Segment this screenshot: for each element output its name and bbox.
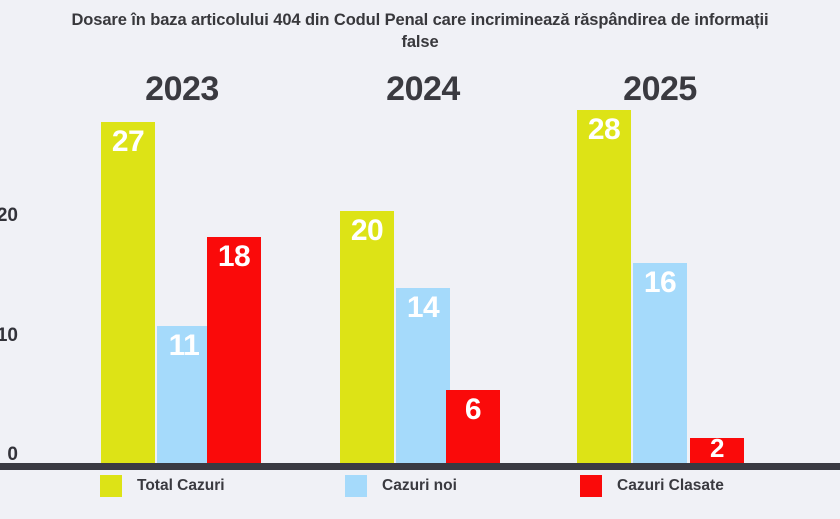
bar-value-label: 27 <box>101 126 155 157</box>
bar-value-label: 11 <box>157 330 211 361</box>
bar-2024-cazuri-noi[interactable]: 14 <box>396 288 450 466</box>
bar-2023-cazuri-noi[interactable]: 11 <box>157 326 211 466</box>
legend-swatch-icon-cazuri-clasate <box>580 475 602 497</box>
x-axis-baseline <box>0 463 840 470</box>
bar-2025-cazuri-clasate[interactable]: 2 <box>690 438 744 466</box>
bar-value-label: 6 <box>446 394 500 425</box>
chart-legend: Total Cazuri Cazuri noi Cazuri Clasate <box>0 474 840 519</box>
legend-item-total-cazuri[interactable]: Total Cazuri <box>100 474 225 498</box>
y-axis-tick-10: 10 <box>0 325 18 347</box>
legend-item-cazuri-noi[interactable]: Cazuri noi <box>345 474 457 498</box>
bar-value-label: 2 <box>690 435 744 462</box>
bar-2024-cazuri-clasate[interactable]: 6 <box>446 390 500 466</box>
legend-label-cazuri-clasate: Cazuri Clasate <box>617 477 724 495</box>
legend-label-cazuri-noi: Cazuri noi <box>382 477 457 495</box>
chart-container: Dosare în baza articolului 404 din Codul… <box>0 0 840 519</box>
legend-swatch-icon-cazuri-noi <box>345 475 367 497</box>
plot-area: 20 10 0 27 11 18 20 14 6 28 16 2 <box>0 0 840 466</box>
bar-value-label: 18 <box>207 241 261 272</box>
bar-value-label: 28 <box>577 114 631 145</box>
bar-2024-total-cazuri[interactable]: 20 <box>340 211 394 466</box>
legend-item-cazuri-clasate[interactable]: Cazuri Clasate <box>580 474 724 498</box>
legend-swatch-icon-total-cazuri <box>100 475 122 497</box>
bar-2025-total-cazuri[interactable]: 28 <box>577 110 631 466</box>
bar-value-label: 16 <box>633 267 687 298</box>
y-axis-tick-20: 20 <box>0 205 18 227</box>
bar-2023-total-cazuri[interactable]: 27 <box>101 122 155 466</box>
bar-2025-cazuri-noi[interactable]: 16 <box>633 263 687 466</box>
bar-value-label: 20 <box>340 215 394 246</box>
bar-value-label: 14 <box>396 292 450 323</box>
legend-label-total-cazuri: Total Cazuri <box>137 477 225 495</box>
bar-2023-cazuri-clasate[interactable]: 18 <box>207 237 261 466</box>
